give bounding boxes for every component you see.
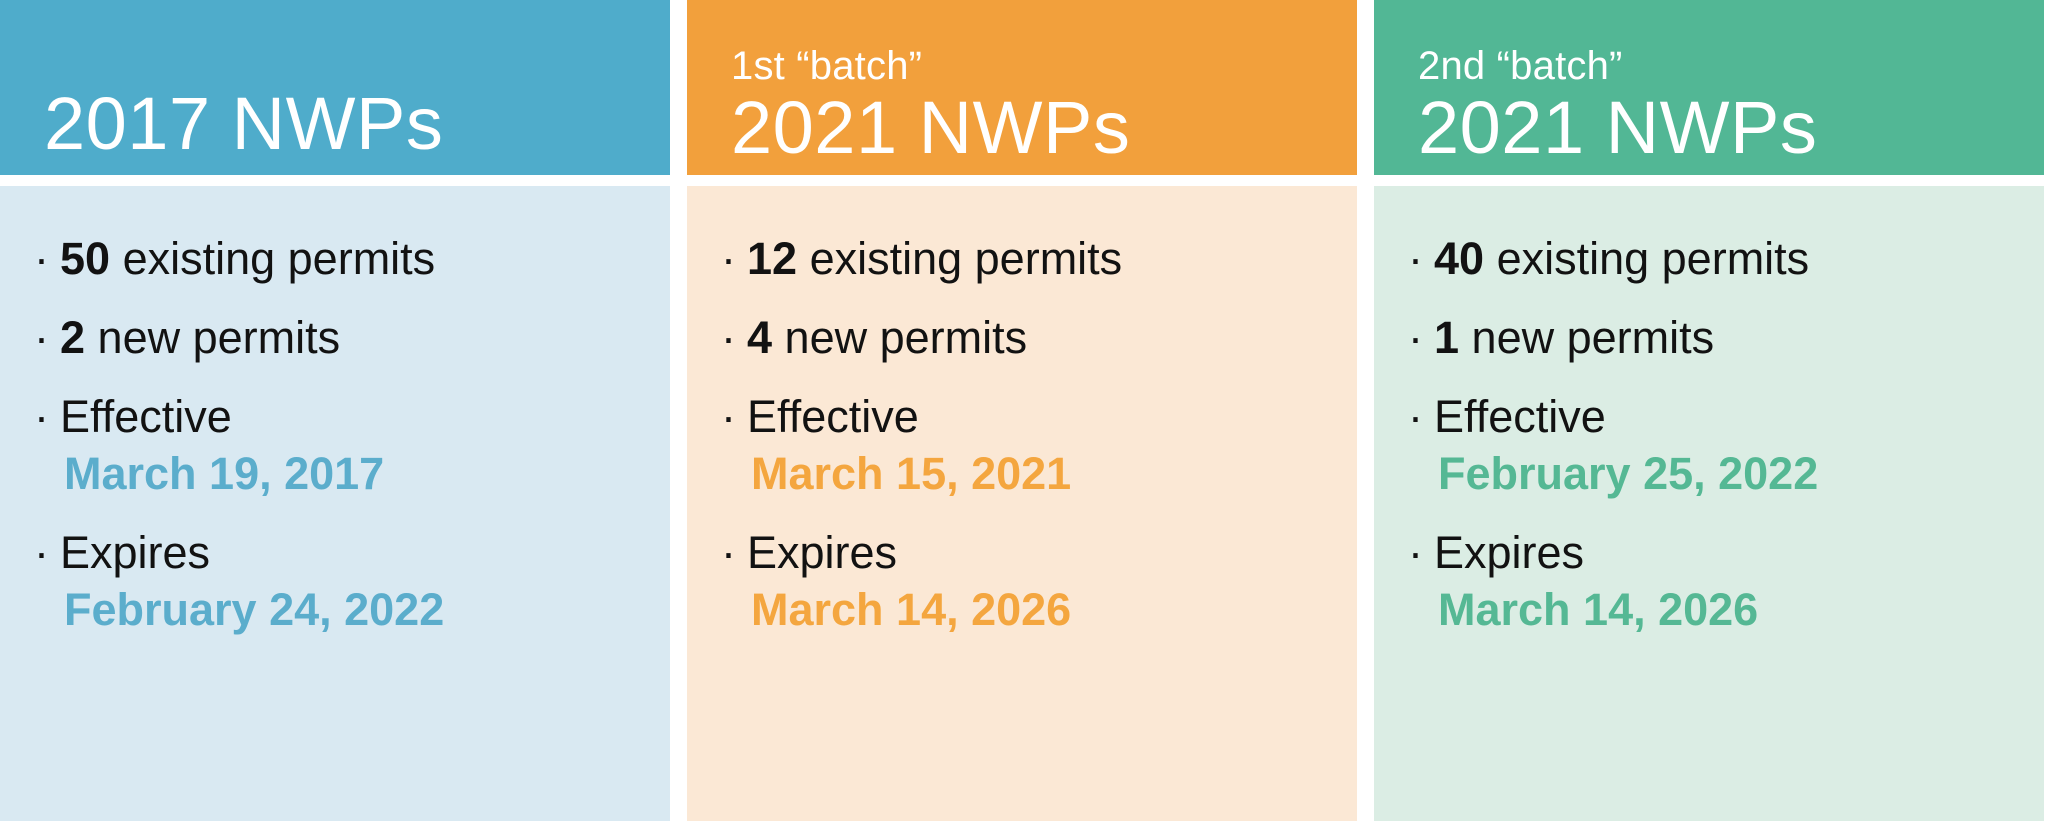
- bullet-list: ·12 existing permits ·4 new permits ·Eff…: [721, 232, 1331, 637]
- column-title: 2021 NWPs: [731, 90, 1357, 165]
- permit-count: 40: [1434, 233, 1484, 284]
- permit-count: 50: [60, 233, 110, 284]
- list-item: ·Expires March 14, 2026: [721, 526, 1331, 636]
- list-item: ·40 existing permits: [1408, 232, 2018, 285]
- nwp-comparison-board: 2017 NWPs ·50 existing permits ·2 new pe…: [0, 0, 2048, 837]
- effective-label: Effective: [747, 391, 919, 442]
- column-header-2017-nwps: 2017 NWPs: [0, 0, 670, 175]
- permit-label-text: new permits: [785, 312, 1028, 363]
- permit-label-text: existing permits: [810, 233, 1123, 284]
- column-header-2021-nwps-first-batch: 1st “batch” 2021 NWPs: [687, 0, 1357, 175]
- bullet-line: ·Expires: [721, 526, 1331, 579]
- list-item: ·4 new permits: [721, 311, 1331, 364]
- bullet-line: ·Expires: [34, 526, 644, 579]
- effective-label: Effective: [1434, 391, 1606, 442]
- bullet-dot-icon: ·: [34, 311, 60, 364]
- permit-count: 1: [1434, 312, 1459, 363]
- list-item: ·12 existing permits: [721, 232, 1331, 285]
- column-title: 2021 NWPs: [1418, 90, 2044, 165]
- bullet-line: ·50 existing permits: [34, 232, 644, 285]
- bullet-dot-icon: ·: [34, 232, 60, 285]
- bullet-dot-icon: ·: [34, 526, 60, 579]
- list-item: ·50 existing permits: [34, 232, 644, 285]
- bullet-line: ·40 existing permits: [1408, 232, 2018, 285]
- list-item: ·1 new permits: [1408, 311, 2018, 364]
- permit-label-text: new permits: [1472, 312, 1715, 363]
- bullet-line: ·1 new permits: [1408, 311, 2018, 364]
- bullet-line: ·Expires: [1408, 526, 2018, 579]
- permit-label-text: new permits: [98, 312, 341, 363]
- expires-label: Expires: [747, 527, 897, 578]
- bullet-dot-icon: ·: [1408, 232, 1434, 285]
- list-item: ·Effective February 25, 2022: [1408, 390, 2018, 500]
- bullet-list: ·40 existing permits ·1 new permits ·Eff…: [1408, 232, 2018, 637]
- bullet-dot-icon: ·: [721, 232, 747, 285]
- column-header-2021-nwps-second-batch: 2nd “batch” 2021 NWPs: [1374, 0, 2044, 175]
- column-body-2021-nwps-second-batch: ·40 existing permits ·1 new permits ·Eff…: [1374, 186, 2044, 821]
- expires-label: Expires: [60, 527, 210, 578]
- effective-date: March 15, 2021: [721, 447, 1331, 500]
- bullet-dot-icon: ·: [721, 526, 747, 579]
- header-body-divider: [1374, 175, 2044, 186]
- bullet-dot-icon: ·: [721, 311, 747, 364]
- expires-label: Expires: [1434, 527, 1584, 578]
- list-item: ·Expires March 14, 2026: [1408, 526, 2018, 636]
- column-2021-nwps-second-batch: 2nd “batch” 2021 NWPs ·40 existing permi…: [1374, 0, 2044, 837]
- bullet-dot-icon: ·: [1408, 311, 1434, 364]
- expires-date: March 14, 2026: [1408, 583, 2018, 636]
- column-kicker: 2nd “batch”: [1418, 46, 2044, 86]
- effective-date: February 25, 2022: [1408, 447, 2018, 500]
- header-body-divider: [0, 175, 670, 186]
- bullet-line: ·4 new permits: [721, 311, 1331, 364]
- bullet-dot-icon: ·: [1408, 390, 1434, 443]
- permit-count: 12: [747, 233, 797, 284]
- column-2021-nwps-first-batch: 1st “batch” 2021 NWPs ·12 existing permi…: [687, 0, 1357, 837]
- column-gap: [1357, 0, 1374, 837]
- permit-count: 2: [60, 312, 85, 363]
- permit-label-text: existing permits: [123, 233, 436, 284]
- expires-date: March 14, 2026: [721, 583, 1331, 636]
- list-item: ·2 new permits: [34, 311, 644, 364]
- column-body-2021-nwps-first-batch: ·12 existing permits ·4 new permits ·Eff…: [687, 186, 1357, 821]
- column-title: 2017 NWPs: [44, 86, 670, 161]
- column-2017-nwps: 2017 NWPs ·50 existing permits ·2 new pe…: [0, 0, 670, 837]
- bullet-dot-icon: ·: [721, 390, 747, 443]
- column-body-2017-nwps: ·50 existing permits ·2 new permits ·Eff…: [0, 186, 670, 821]
- list-item: ·Effective March 15, 2021: [721, 390, 1331, 500]
- effective-label: Effective: [60, 391, 232, 442]
- column-kicker: 1st “batch”: [731, 46, 1357, 86]
- bullet-line: ·Effective: [1408, 390, 2018, 443]
- column-gap: [670, 0, 687, 837]
- bullet-line: ·Effective: [34, 390, 644, 443]
- bullet-dot-icon: ·: [34, 390, 60, 443]
- bullet-dot-icon: ·: [1408, 526, 1434, 579]
- bullet-line: ·12 existing permits: [721, 232, 1331, 285]
- permit-label-text: existing permits: [1497, 233, 1810, 284]
- bullet-line: ·Effective: [721, 390, 1331, 443]
- permit-label: [110, 233, 123, 284]
- bullet-list: ·50 existing permits ·2 new permits ·Eff…: [34, 232, 644, 637]
- list-item: ·Expires February 24, 2022: [34, 526, 644, 636]
- permit-count: 4: [747, 312, 772, 363]
- header-body-divider: [687, 175, 1357, 186]
- effective-date: March 19, 2017: [34, 447, 644, 500]
- list-item: ·Effective March 19, 2017: [34, 390, 644, 500]
- expires-date: February 24, 2022: [34, 583, 644, 636]
- bullet-line: ·2 new permits: [34, 311, 644, 364]
